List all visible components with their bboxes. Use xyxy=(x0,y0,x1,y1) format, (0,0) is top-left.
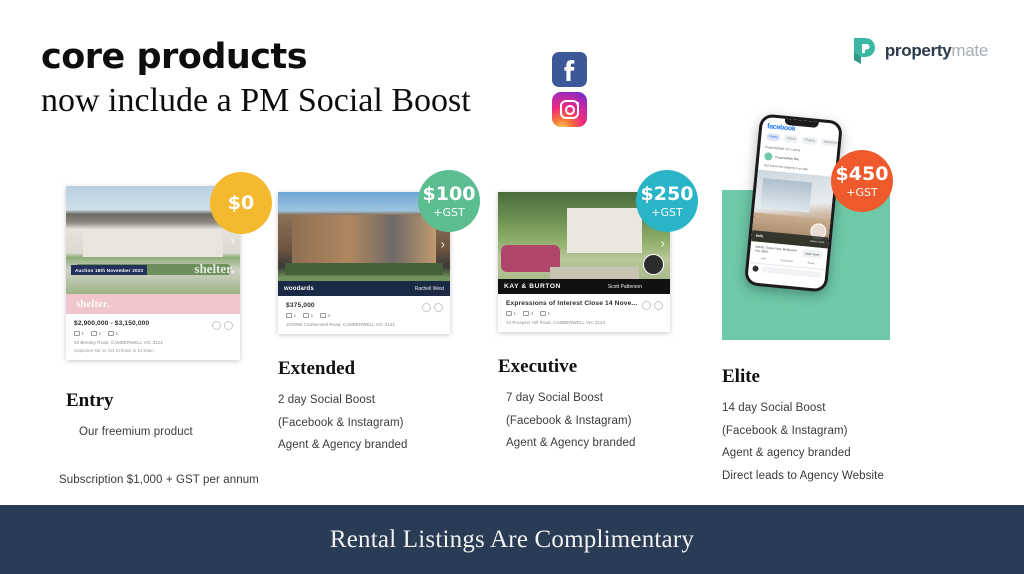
tab-about[interactable]: About xyxy=(783,135,798,143)
next-photo-chevron-icon[interactable]: › xyxy=(661,237,665,250)
comment-input[interactable] xyxy=(761,267,821,279)
agent-name: Scott Patterson xyxy=(608,284,642,290)
listing-address: 33 Bernlay Road, CAMBERWELL VIC 3124 xyxy=(74,340,232,345)
tier-lines: 14 day Social Boost (Facebook & Instagra… xyxy=(722,397,952,487)
user-avatar xyxy=(752,266,759,273)
page-subtitle: now include a PM Social Boost xyxy=(41,80,471,122)
photo-hedge xyxy=(285,263,443,275)
tier-line: (Facebook & Instagram) xyxy=(722,420,952,443)
tier-block-extended: Extended 2 day Social Boost (Facebook & … xyxy=(278,358,450,457)
listing-features: 1 4 1 xyxy=(506,311,662,316)
footer-text: Rental Listings Are Complimentary xyxy=(330,526,694,554)
like-button[interactable]: Like xyxy=(761,256,767,260)
tier-block-entry: Entry Our freemium product xyxy=(66,390,240,444)
price-badge-amount: $100 xyxy=(423,185,476,204)
share-button[interactable]: Share xyxy=(807,260,815,265)
listing-info: $2,900,000 - $3,150,000 1 1 1 33 Bernlay… xyxy=(66,314,240,360)
tier-name: Extended xyxy=(278,358,450,380)
tier-name: Entry xyxy=(66,390,240,412)
propertymate-logo-icon xyxy=(851,36,878,65)
post-image-window xyxy=(760,178,812,213)
agent-avatar xyxy=(643,254,664,275)
cars-count: 1 xyxy=(108,331,118,336)
tier-name: Executive xyxy=(498,356,670,378)
agent-name: Rachell West xyxy=(415,286,444,292)
price-badge-executive: $250 +GST xyxy=(636,170,698,232)
footer-banner: Rental Listings Are Complimentary xyxy=(0,505,1024,574)
price-badge-entry: $0 xyxy=(210,172,272,234)
tier-line: 7 day Social Boost xyxy=(506,387,670,410)
tier-block-executive: Executive 7 day Social Boost (Facebook &… xyxy=(498,356,670,455)
listing-info: Expressions of Interest Close 14 Nove...… xyxy=(498,294,670,332)
cars-count: 1 xyxy=(320,313,330,318)
favorite-icon[interactable] xyxy=(654,301,663,310)
tab-photos[interactable]: Photos xyxy=(801,136,818,144)
tier-line: 2 day Social Boost xyxy=(278,389,450,412)
tab-posts[interactable]: Posts xyxy=(766,133,781,141)
listing-address: 14 Prospect Hill Road, CAMBERWELL VIC 31… xyxy=(506,320,662,325)
tier-lines: Our freemium product xyxy=(66,421,240,444)
price-badge-gst: +GST xyxy=(846,187,877,198)
listing-features: 1 1 1 xyxy=(286,313,442,318)
auction-tag: Auction 18th November 2023 xyxy=(71,265,147,275)
brand-logo: propertymate xyxy=(851,36,988,65)
title-block: core products now include a PM Social Bo… xyxy=(41,36,471,122)
photo-house xyxy=(83,229,222,257)
next-photo-chevron-icon[interactable]: › xyxy=(441,238,445,251)
price-badge-amount: $0 xyxy=(228,194,254,213)
listing-actions[interactable] xyxy=(212,321,233,330)
logo-word-mate: mate xyxy=(951,41,988,60)
listing-features: 1 1 1 xyxy=(74,331,232,336)
tier-line: Agent & agency branded xyxy=(722,442,952,465)
social-icons xyxy=(552,52,588,127)
cars-count: 1 xyxy=(540,311,550,316)
listing-price: Expressions of Interest Close 14 Nove... xyxy=(506,300,662,307)
logo-word-property: property xyxy=(885,41,952,60)
comment-button[interactable]: Comment xyxy=(781,258,793,263)
post-image[interactable]: bells Adam Locke xyxy=(751,169,835,248)
product-column-extended: woodards Rachell West › $375,000 1 1 1 1… xyxy=(278,192,450,457)
price-badge-elite: $450 +GST xyxy=(831,150,893,212)
baths-count: 4 xyxy=(523,311,533,316)
post-brand: bells xyxy=(755,234,763,239)
page-title: core products xyxy=(41,36,471,78)
learn-more-button[interactable]: Learn more xyxy=(802,249,823,259)
tier-line: 14 day Social Boost xyxy=(722,397,952,420)
favorite-icon[interactable] xyxy=(224,321,233,330)
listing-price: $2,900,000 - $3,150,000 xyxy=(74,320,232,327)
favorite-icon[interactable] xyxy=(434,303,443,312)
tier-line: Our freemium product xyxy=(79,421,240,444)
listing-price: $375,000 xyxy=(286,302,442,309)
price-badge-gst: +GST xyxy=(433,207,464,218)
agency-band-label: shelter. xyxy=(76,298,110,310)
instagram-icon xyxy=(552,92,587,127)
price-badge-extended: $100 +GST xyxy=(418,170,480,232)
agency-band: woodards Rachell West xyxy=(278,281,450,296)
page-avatar xyxy=(764,152,773,161)
agency-band: KAY & BURTON Scott Patterson xyxy=(498,279,670,294)
logo-text: propertymate xyxy=(885,41,988,61)
beds-count: 1 xyxy=(286,313,296,318)
tab-mentions[interactable]: Mentions xyxy=(821,138,840,147)
tier-line: Agent & Agency branded xyxy=(278,434,450,457)
listing-info: $375,000 1 1 1 103/959 Camberwell Road, … xyxy=(278,296,450,334)
beds-count: 1 xyxy=(74,331,84,336)
agency-band-label: KAY & BURTON xyxy=(504,283,561,290)
tier-line: (Facebook & Instagram) xyxy=(278,412,450,435)
tier-line: (Facebook & Instagram) xyxy=(506,410,670,433)
photo-watermark: shelter. xyxy=(194,261,234,277)
compare-icon[interactable] xyxy=(642,301,651,310)
listing-address: 103/959 Camberwell Road, CAMBERWELL VIC … xyxy=(286,322,442,327)
facebook-icon xyxy=(552,52,587,87)
tier-line: Agent & Agency branded xyxy=(506,432,670,455)
baths-count: 1 xyxy=(303,313,313,318)
tier-lines: 7 day Social Boost (Facebook & Instagram… xyxy=(498,387,670,455)
price-badge-gst: +GST xyxy=(651,207,682,218)
product-column-elite: Elite 14 day Social Boost (Facebook & In… xyxy=(722,366,952,487)
page-name: PropertyMate Bite xyxy=(775,155,799,161)
post-agent-name: Adam Locke xyxy=(810,240,825,244)
listing-actions[interactable] xyxy=(422,303,443,312)
price-badge-amount: $250 xyxy=(641,185,694,204)
tier-name: Elite xyxy=(722,366,952,388)
slide: core products now include a PM Social Bo… xyxy=(0,0,1024,574)
photo-mansion xyxy=(567,208,643,253)
phone-mockup: facebook Posts About Photos Mentions Pro… xyxy=(744,113,843,292)
baths-count: 1 xyxy=(91,331,101,336)
product-column-entry: shelter. Auction 18th November 2023 › sh… xyxy=(66,186,240,443)
agency-band-label: woodards xyxy=(284,286,314,292)
compare-icon[interactable] xyxy=(212,321,221,330)
subscription-note: Subscription $1,000 + GST per annum xyxy=(59,474,259,486)
listing-inspection: Inspection Sat 14 Oct 10:00am to 10:30am xyxy=(74,348,232,353)
listing-actions[interactable] xyxy=(642,301,663,310)
phone-screen: facebook Posts About Photos Mentions Pro… xyxy=(747,117,840,290)
compare-icon[interactable] xyxy=(422,303,431,312)
post-caption: 501/61 Tucker Row, Melbourne VIC 3000 xyxy=(755,244,802,256)
tier-line: Direct leads to Agency Website xyxy=(722,465,952,488)
price-badge-amount: $450 xyxy=(836,165,889,184)
product-column-executive: KAY & BURTON Scott Patterson › Expressio… xyxy=(498,192,670,455)
tier-lines: 2 day Social Boost (Facebook & Instagram… xyxy=(278,389,450,457)
beds-count: 1 xyxy=(506,311,516,316)
agency-band: shelter. xyxy=(66,294,240,314)
next-photo-chevron-icon[interactable]: › xyxy=(231,234,235,247)
photo-building xyxy=(292,215,436,263)
